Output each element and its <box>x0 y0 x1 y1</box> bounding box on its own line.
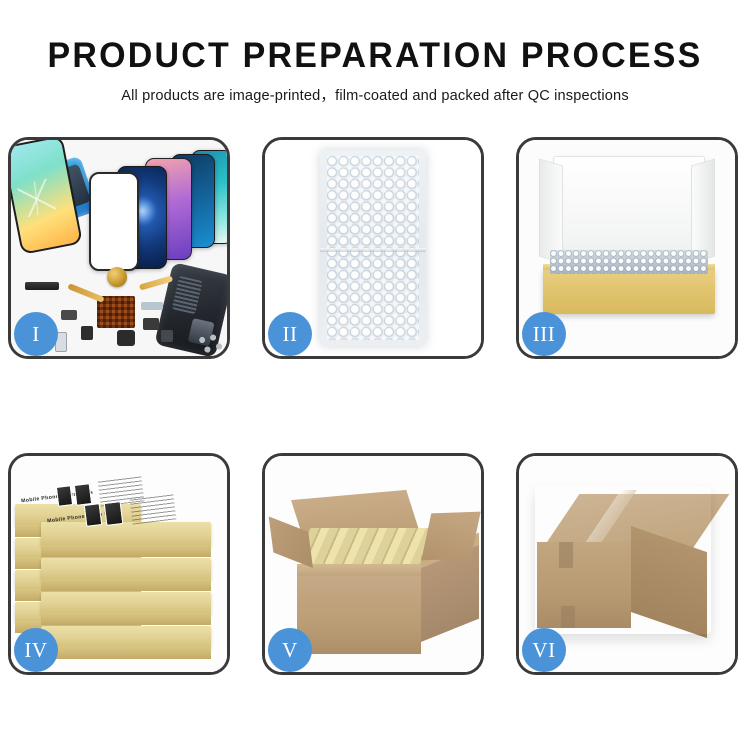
box-side <box>41 647 211 659</box>
process-step-2: II <box>262 137 484 359</box>
small-part-icon <box>117 330 135 346</box>
box-side <box>41 613 211 625</box>
page-title: PRODUCT PREPARATION PROCESS <box>11 0 739 75</box>
box-lid-flap-left <box>539 159 563 264</box>
box-artwork-thumbnail <box>84 503 103 527</box>
kraft-inner-box-icon <box>543 268 715 314</box>
step-number-badge: VI <box>522 628 566 672</box>
small-part-icon <box>61 310 77 320</box>
step-number-badge: IV <box>14 628 58 672</box>
speaker-strip-icon <box>25 282 59 290</box>
carton-rim-front <box>297 564 421 576</box>
screws-icon <box>197 334 223 354</box>
retail-box <box>41 558 211 580</box>
step-number-badge: V <box>268 628 312 672</box>
carton-front-panel <box>537 542 631 628</box>
page-subtitle: All products are image-printed，film-coat… <box>0 75 750 105</box>
box-artwork-thumbnail <box>74 483 92 506</box>
step-number-badge: I <box>14 312 58 356</box>
tape-tab-icon <box>561 606 575 628</box>
retail-box <box>41 592 211 614</box>
small-part-icon <box>81 326 93 340</box>
retail-box <box>41 626 211 648</box>
process-step-4: Mobile Phone Spare Parts Mobile Phone Sp… <box>8 453 230 675</box>
box-side <box>41 579 211 591</box>
step-number-badge: III <box>522 312 566 356</box>
process-step-6: VI <box>516 453 738 675</box>
process-step-3: III <box>516 137 738 359</box>
box-artwork-thumbnail <box>104 501 124 526</box>
box-side <box>41 545 211 557</box>
small-part-icon <box>141 302 163 310</box>
bubble-wrap-pack-icon <box>320 150 426 346</box>
page-header: PRODUCT PREPARATION PROCESS All products… <box>0 0 750 105</box>
wrap-seam <box>320 248 426 252</box>
bubble-wrapped-contents-icon <box>550 250 708 274</box>
box-artwork-thumbnail <box>56 485 73 507</box>
process-step-5: V <box>262 453 484 675</box>
small-part-icon <box>143 318 159 330</box>
process-steps-grid: I II III <box>8 137 742 675</box>
box-spec-text-lines <box>130 493 177 524</box>
screen-glass-icon <box>89 172 139 271</box>
carton-front-panel <box>297 576 421 654</box>
carton-flap-right <box>421 512 480 561</box>
process-step-1: I <box>8 137 230 359</box>
vibration-motor-icon <box>107 267 127 287</box>
tape-tab-icon <box>559 542 573 568</box>
step-number-badge: II <box>268 312 312 356</box>
box-lid-flap-right <box>691 159 715 264</box>
retail-box <box>41 522 211 546</box>
small-part-icon <box>161 330 173 342</box>
